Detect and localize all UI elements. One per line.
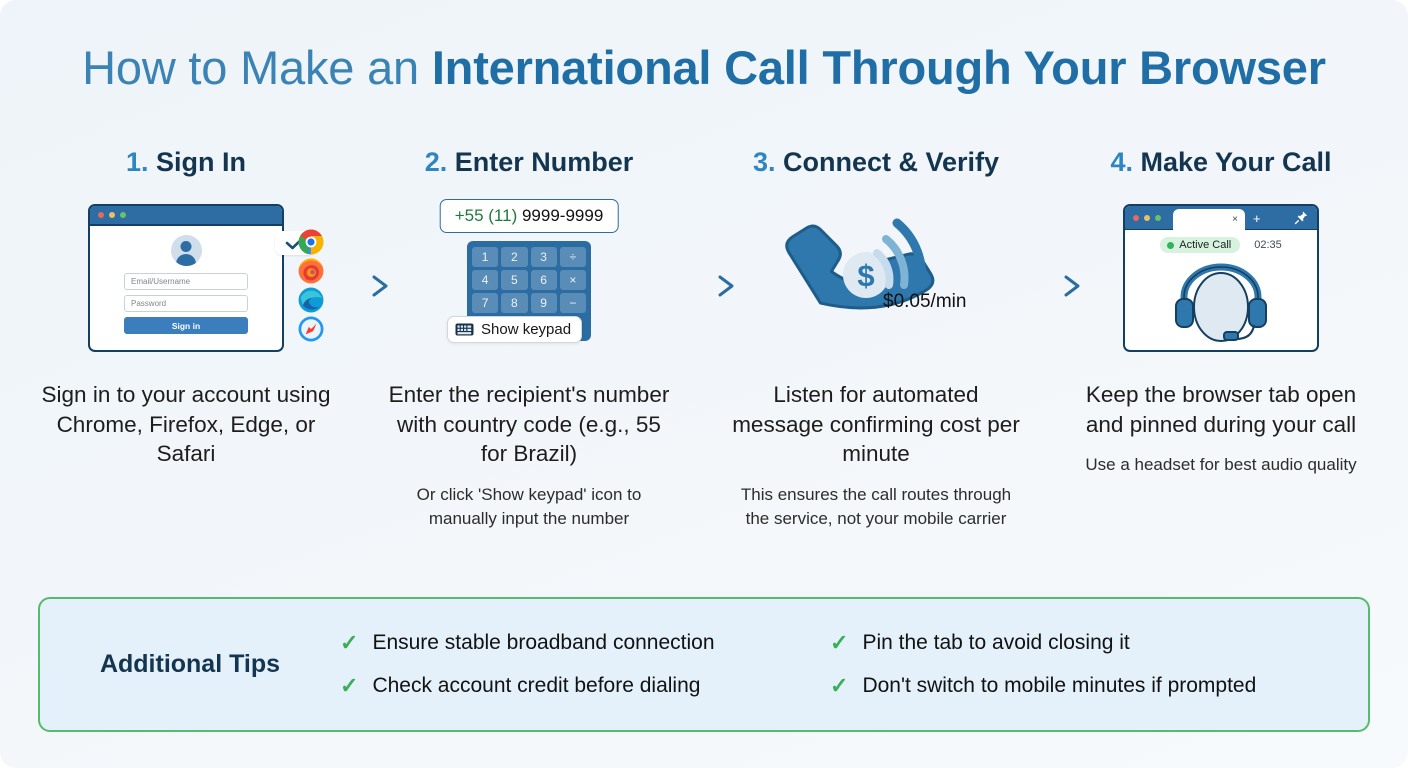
key-3[interactable]: 3 (531, 247, 557, 267)
tip-label: Ensure stable broadband connection (372, 631, 714, 655)
step-1-number: 1. (126, 147, 149, 177)
email-field[interactable]: Email/Username (124, 273, 248, 290)
key-8[interactable]: 8 (501, 293, 527, 313)
tips-title: Additional Tips (40, 650, 340, 679)
step-3-description: Listen for automated message confirming … (731, 380, 1021, 469)
step-3-subnote: This ensures the call routes through the… (731, 483, 1021, 531)
step-4-heading: 4. Make Your Call (1076, 145, 1366, 179)
status-badge: Active Call (1160, 237, 1240, 253)
arrow-right-icon-3 (1014, 272, 1084, 300)
browser-icon-list (298, 229, 324, 342)
step-1-heading: 1. Sign In (41, 145, 331, 179)
window-close-dot (98, 212, 104, 218)
phone-number-input[interactable]: +55 (11) 9999-9999 (440, 199, 619, 233)
new-tab-icon[interactable]: + (1253, 211, 1261, 226)
title-bold-part: International Call Through Your Browser (432, 41, 1326, 94)
browser-titlebar (90, 206, 282, 226)
firefox-icon[interactable] (298, 258, 324, 284)
country-code-text: +55 (11) (455, 206, 522, 225)
key-multiply[interactable]: × (560, 270, 586, 290)
step-2-heading: 2. Enter Number (384, 145, 674, 179)
window-maximize-dot (120, 212, 126, 218)
chrome-icon[interactable] (298, 229, 324, 255)
infographic-page: How to Make an International Call Throug… (0, 0, 1408, 768)
show-keypad-label: Show keypad (481, 321, 571, 338)
signin-browser-window: Email/Username Password Sign in (88, 204, 284, 352)
step-4: 4. Make Your Call × + (1076, 145, 1366, 477)
password-field[interactable]: Password (124, 295, 248, 312)
active-call-browser-window: × + Active Call 02:35 (1123, 204, 1319, 352)
key-4[interactable]: 4 (472, 270, 498, 290)
tab-close-icon[interactable]: × (1232, 214, 1238, 225)
step-4-subnote: Use a headset for best audio quality (1076, 453, 1366, 477)
check-icon: ✓ (830, 675, 848, 697)
additional-tips-box: Additional Tips ✓ Ensure stable broadban… (38, 597, 1370, 732)
window-minimize-dot (1144, 215, 1150, 221)
arrow-right-icon-2 (668, 272, 738, 300)
key-5[interactable]: 5 (501, 270, 527, 290)
window-close-dot (1133, 215, 1139, 221)
svg-text:$: $ (857, 258, 874, 293)
check-icon: ✓ (340, 632, 358, 654)
step-1-artwork: Email/Username Password Sign in (41, 199, 331, 364)
tip-item: ✓ Pin the tab to avoid closing it (830, 631, 1256, 655)
call-status-row: Active Call 02:35 (1125, 237, 1317, 253)
status-dot-icon (1167, 242, 1174, 249)
step-2-artwork: +55 (11) 9999-9999 1 2 3 ÷ 4 5 6 × 7 8 9… (384, 199, 674, 364)
tip-label: Check account credit before dialing (372, 674, 700, 698)
check-icon: ✓ (340, 675, 358, 697)
tip-label: Don't switch to mobile minutes if prompt… (862, 674, 1256, 698)
step-2-subnote: Or click 'Show keypad' icon to manually … (384, 483, 674, 531)
tips-column-1: ✓ Ensure stable broadband connection ✓ C… (340, 631, 830, 698)
phone-number-text: 9999-9999 (522, 206, 603, 225)
tips-column-2: ✓ Pin the tab to avoid closing it ✓ Don'… (830, 631, 1256, 698)
step-1-description: Sign in to your account using Chrome, Fi… (41, 380, 331, 469)
pin-icon[interactable] (1294, 210, 1309, 230)
step-3-title: Connect & Verify (783, 147, 999, 177)
avatar (171, 235, 202, 266)
tip-item: ✓ Check account credit before dialing (340, 674, 830, 698)
key-7[interactable]: 7 (472, 293, 498, 313)
sign-in-button[interactable]: Sign in (124, 317, 248, 334)
step-3-number: 3. (753, 147, 776, 177)
title-light-part: How to Make an (82, 41, 432, 94)
key-minus[interactable]: − (560, 293, 586, 313)
window-minimize-dot (109, 212, 115, 218)
rate-label: $0.05/min (883, 291, 966, 313)
tip-label: Pin the tab to avoid closing it (862, 631, 1129, 655)
phone-signal-icon: $ (771, 199, 981, 354)
show-keypad-tooltip[interactable]: Show keypad (447, 316, 582, 343)
safari-icon[interactable] (298, 316, 324, 342)
browser-tab[interactable]: × (1173, 209, 1245, 230)
step-4-artwork: × + Active Call 02:35 (1076, 199, 1366, 364)
tip-item: ✓ Ensure stable broadband connection (340, 631, 830, 655)
browser-tabbar: × + (1125, 206, 1317, 230)
arrow-right-icon-1 (322, 272, 392, 300)
status-label: Active Call (1179, 239, 1231, 251)
step-3: 3. Connect & Verify $ $0.05/min Listen f… (731, 145, 1021, 531)
step-4-title: Make Your Call (1140, 147, 1331, 177)
keyboard-icon (455, 323, 474, 336)
step-1-title: Sign In (156, 147, 246, 177)
step-4-description: Keep the browser tab open and pinned dur… (1076, 380, 1366, 439)
key-divide[interactable]: ÷ (560, 247, 586, 267)
key-1[interactable]: 1 (472, 247, 498, 267)
step-3-artwork: $ $0.05/min (731, 199, 1021, 364)
step-2-number: 2. (425, 147, 448, 177)
step-2-description: Enter the recipient's number with countr… (384, 380, 674, 469)
headset-icon (1166, 255, 1276, 343)
edge-icon[interactable] (298, 287, 324, 313)
step-1: 1. Sign In Email/Username Password Sign … (41, 145, 331, 469)
key-9[interactable]: 9 (531, 293, 557, 313)
step-3-heading: 3. Connect & Verify (731, 145, 1021, 179)
page-title: How to Make an International Call Throug… (0, 40, 1408, 95)
key-6[interactable]: 6 (531, 270, 557, 290)
step-2: 2. Enter Number +55 (11) 9999-9999 1 2 3… (384, 145, 674, 531)
step-4-number: 4. (1110, 147, 1133, 177)
tip-item: ✓ Don't switch to mobile minutes if prom… (830, 674, 1256, 698)
call-timer: 02:35 (1254, 239, 1282, 251)
window-maximize-dot (1155, 215, 1161, 221)
step-2-title: Enter Number (455, 147, 634, 177)
key-2[interactable]: 2 (501, 247, 527, 267)
check-icon: ✓ (830, 632, 848, 654)
